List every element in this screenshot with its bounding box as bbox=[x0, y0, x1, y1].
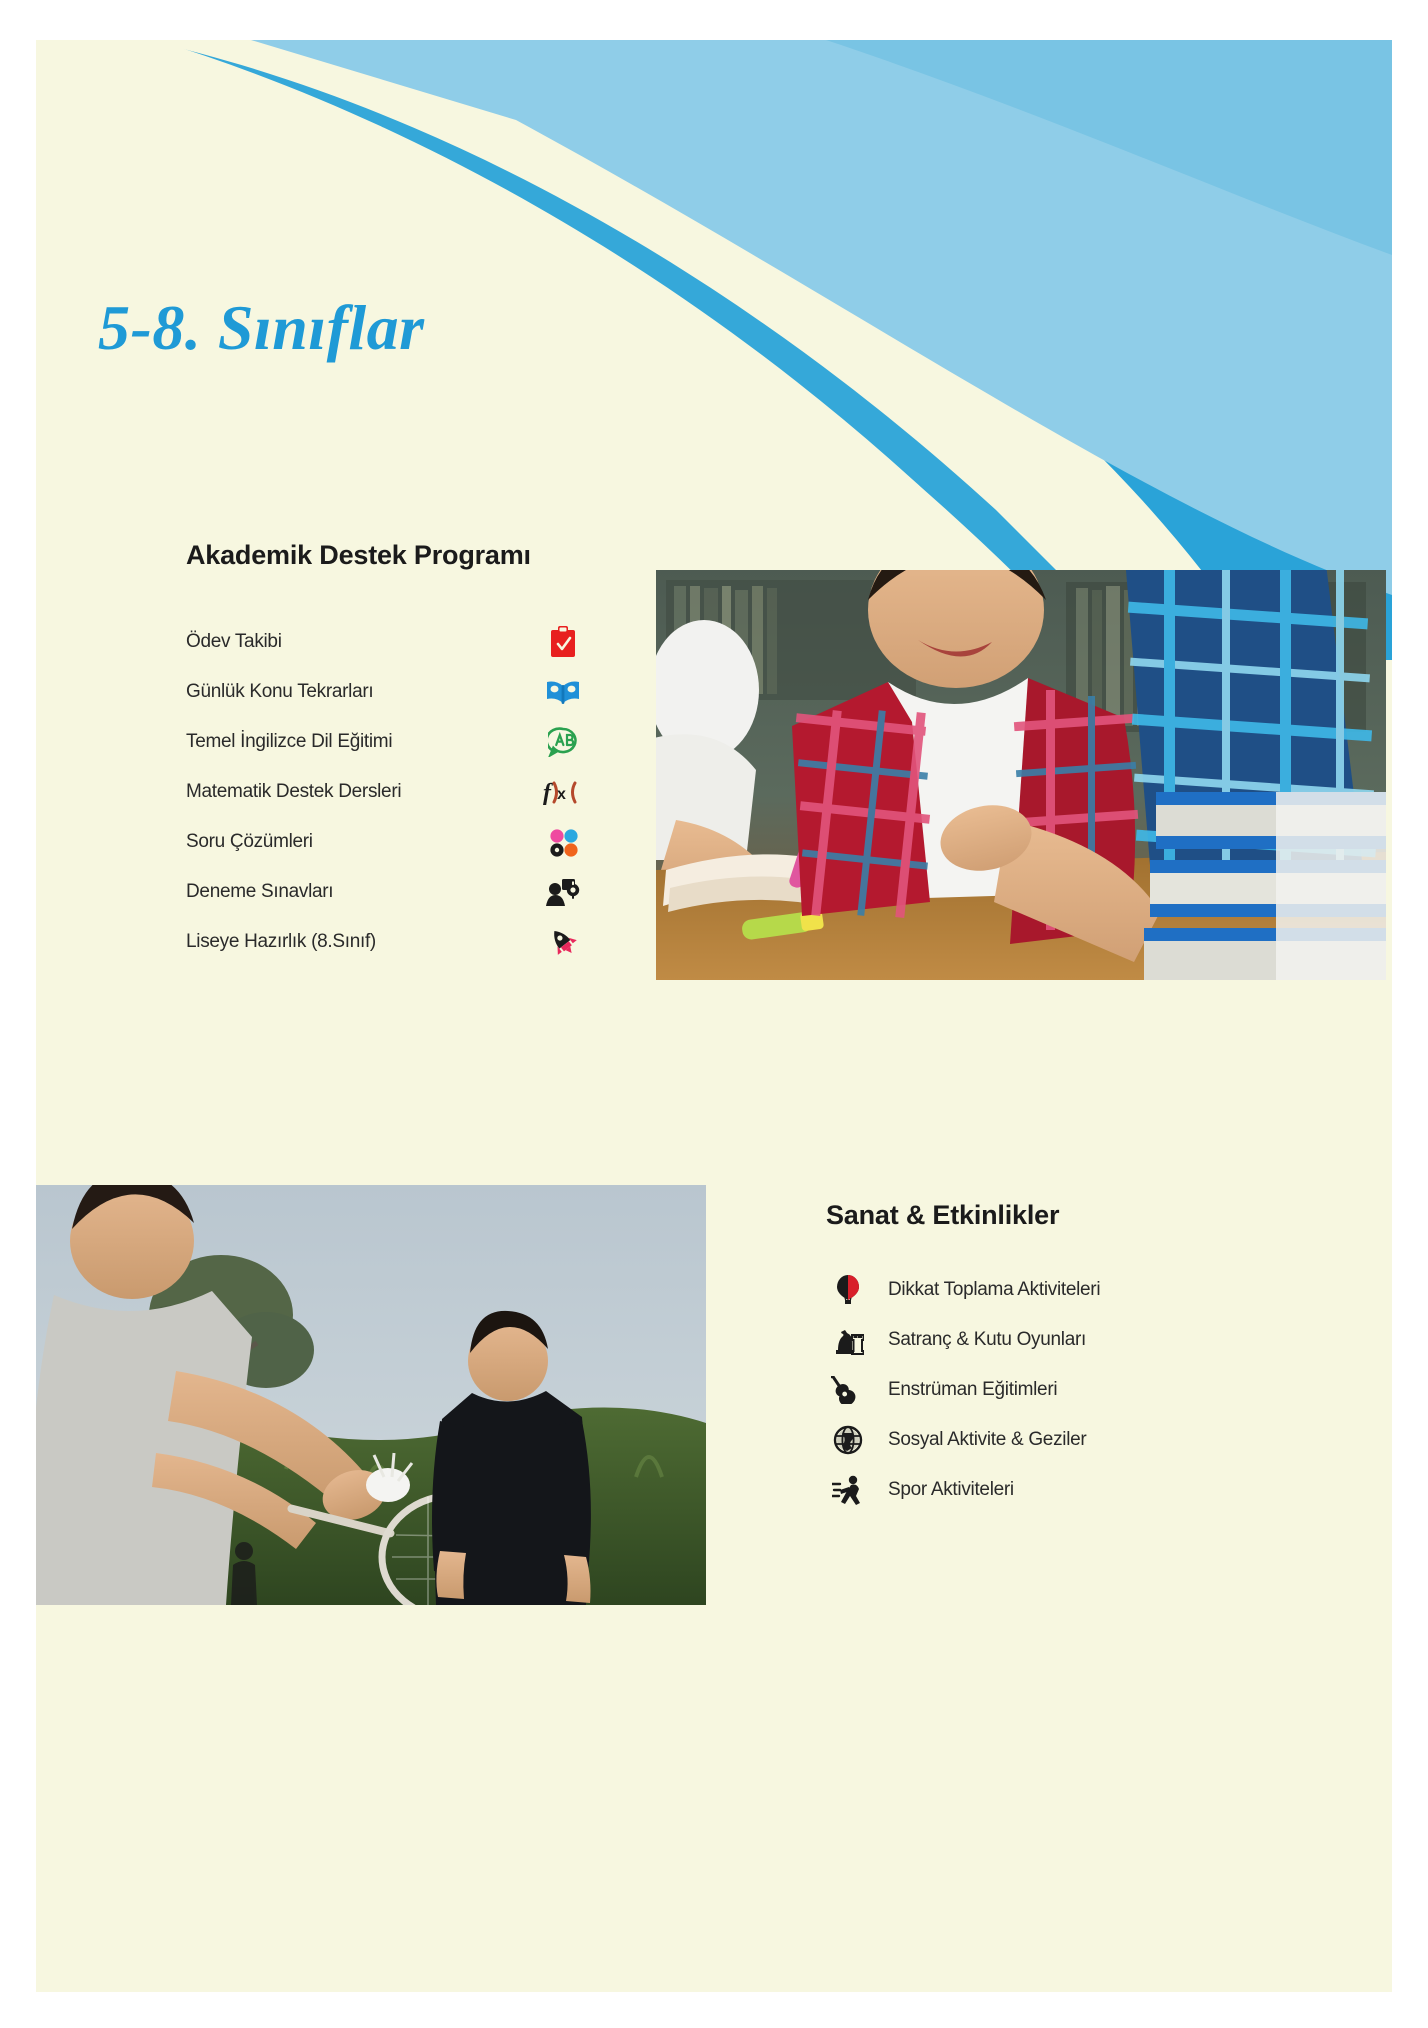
feature-item-deneme-sinavlari[interactable]: Deneme Sınavları bbox=[186, 867, 584, 917]
students-studying-library-photo bbox=[656, 570, 1386, 980]
feature-label: Soru Çözümleri bbox=[186, 831, 313, 853]
open-book-icon bbox=[542, 674, 584, 710]
feature-label: Sosyal Aktivite & Geziler bbox=[888, 1429, 1086, 1451]
feature-label: Temel İngilizce Dil Eğitimi bbox=[186, 731, 392, 753]
title-block: 5-8. Sınıflar bbox=[98, 296, 798, 360]
feature-label: Enstrüman Eğitimleri bbox=[888, 1379, 1057, 1401]
hot-air-balloon-icon bbox=[826, 1272, 870, 1308]
feature-label: Matematik Destek Dersleri bbox=[186, 781, 401, 803]
feature-item-dikkat-toplama[interactable]: Dikkat Toplama Aktiviteleri bbox=[826, 1265, 1296, 1315]
arts-section-heading: Sanat & Etkinlikler bbox=[826, 1200, 1296, 1231]
academic-section-heading: Akademik Destek Programı bbox=[186, 540, 656, 571]
feature-label: Dikkat Toplama Aktiviteleri bbox=[888, 1279, 1100, 1301]
svg-text:x: x bbox=[557, 786, 566, 803]
feature-label: Liseye Hazırlık (8.Sınıf) bbox=[186, 931, 376, 953]
person-gear-icon bbox=[542, 874, 584, 910]
feature-item-enstruman-egitimleri[interactable]: Enstrüman Eğitimleri bbox=[826, 1365, 1296, 1415]
feature-item-sosyal-aktivite-geziler[interactable]: Sosyal Aktivite & Geziler bbox=[826, 1415, 1296, 1465]
feature-label: Satranç & Kutu Oyunları bbox=[888, 1329, 1086, 1351]
feature-label: Ödev Takibi bbox=[186, 631, 282, 653]
page-sheet: 5-8. Sınıflar bbox=[36, 40, 1392, 1992]
speech-bubble-language-icon bbox=[542, 724, 584, 760]
students-badminton-outdoors-photo bbox=[36, 1185, 706, 1605]
running-person-icon bbox=[826, 1472, 870, 1508]
four-dots-icon bbox=[542, 824, 584, 860]
page-title: 5-8. Sınıflar bbox=[98, 296, 798, 360]
feature-item-liseye-hazirlik[interactable]: Liseye Hazırlık (8.Sınıf) bbox=[186, 917, 584, 967]
poster-page: 5-8. Sınıflar bbox=[0, 0, 1428, 2028]
svg-text:f: f bbox=[543, 780, 553, 806]
swoosh-band-mid bbox=[826, 40, 1392, 255]
function-fx-icon: f x bbox=[542, 774, 584, 810]
feature-item-gunluk-konu-tekrarlari[interactable]: Günlük Konu Tekrarları bbox=[186, 667, 584, 717]
feature-item-odev-takibi[interactable]: Ödev Takibi bbox=[186, 617, 584, 667]
feature-item-satranc-kutu-oyunlari[interactable]: Satranç & Kutu Oyunları bbox=[826, 1315, 1296, 1365]
globe-icon bbox=[826, 1422, 870, 1458]
academic-feature-list: Ödev Takibi Günlük Konu Tekrarları bbox=[186, 617, 656, 967]
clipboard-icon bbox=[542, 624, 584, 660]
rocket-icon bbox=[542, 924, 584, 960]
feature-item-soru-cozumleri[interactable]: Soru Çözümleri bbox=[186, 817, 584, 867]
arts-activities-section: Sanat & Etkinlikler Dikkat Toplama Aktiv… bbox=[826, 1200, 1296, 1515]
academic-support-section: Akademik Destek Programı Ödev Takibi bbox=[186, 540, 656, 967]
feature-item-spor-aktiviteleri[interactable]: Spor Aktiviteleri bbox=[826, 1465, 1296, 1515]
arts-feature-list: Dikkat Toplama Aktiviteleri Satranç & Ku… bbox=[826, 1265, 1296, 1515]
feature-label: Deneme Sınavları bbox=[186, 881, 333, 903]
feature-item-matematik-destek[interactable]: Matematik Destek Dersleri f x bbox=[186, 767, 584, 817]
feature-label: Günlük Konu Tekrarları bbox=[186, 681, 373, 703]
guitar-icon bbox=[826, 1372, 870, 1408]
chess-pieces-icon bbox=[826, 1322, 870, 1358]
feature-label: Spor Aktiviteleri bbox=[888, 1479, 1014, 1501]
feature-item-temel-ingilizce[interactable]: Temel İngilizce Dil Eğitimi bbox=[186, 717, 584, 767]
